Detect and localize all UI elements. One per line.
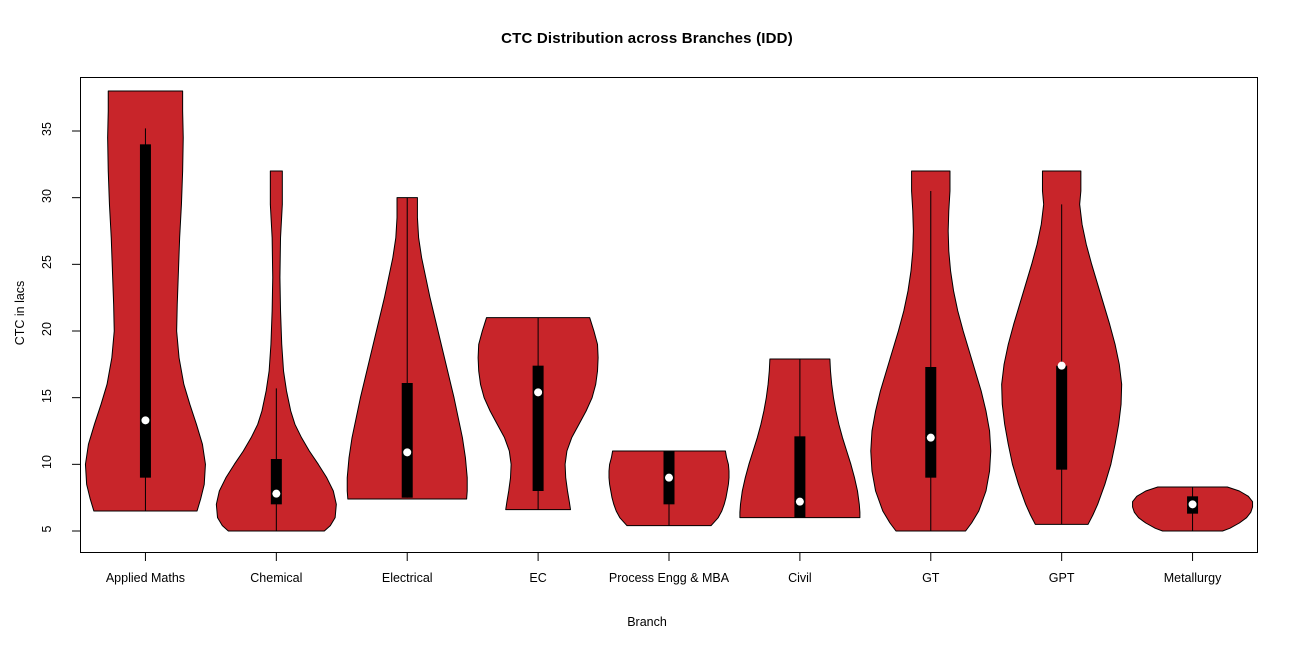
violin-gt[interactable] — [871, 171, 991, 531]
violin-civil[interactable] — [740, 359, 860, 518]
y-tick-label: 20 — [40, 318, 54, 340]
iqr-box — [925, 367, 936, 478]
median-point — [665, 474, 673, 482]
violin-metallurgy[interactable] — [1133, 487, 1253, 531]
median-point — [403, 448, 411, 456]
x-tick-label-civil: Civil — [788, 571, 812, 585]
y-tick-label: 25 — [40, 251, 54, 273]
violin-applied-maths[interactable] — [85, 91, 205, 511]
y-tick-label: 5 — [40, 518, 54, 540]
x-axis-label: Branch — [0, 615, 1294, 629]
median-point — [927, 434, 935, 442]
x-tick-label-applied-maths: Applied Maths — [106, 571, 185, 585]
x-tick-label-electrical: Electrical — [382, 571, 433, 585]
y-tick-label: 15 — [40, 385, 54, 407]
x-tick-label-gt: GT — [922, 571, 939, 585]
x-tick-label-ec: EC — [529, 571, 546, 585]
violin-plot-svg — [0, 0, 1294, 653]
y-tick-label: 10 — [40, 451, 54, 473]
median-point — [141, 416, 149, 424]
iqr-box — [140, 144, 151, 477]
median-point — [1189, 500, 1197, 508]
x-tick-label-gpt: GPT — [1049, 571, 1075, 585]
median-point — [796, 498, 804, 506]
iqr-box — [1056, 366, 1067, 470]
chart-root: CTC Distribution across Branches (IDD) C… — [0, 0, 1294, 653]
median-point — [272, 490, 280, 498]
violin-gpt[interactable] — [1002, 171, 1122, 524]
iqr-box — [402, 383, 413, 498]
violin-chemical[interactable] — [216, 171, 336, 531]
iqr-box — [533, 366, 544, 491]
violin-electrical[interactable] — [347, 198, 467, 499]
violin-process-engg-mba[interactable] — [609, 451, 729, 526]
median-point — [534, 388, 542, 396]
y-tick-label: 35 — [40, 118, 54, 140]
violin-ec[interactable] — [478, 318, 598, 510]
median-point — [1058, 362, 1066, 370]
x-tick-label-process-engg-mba: Process Engg & MBA — [609, 571, 729, 585]
violins-group — [85, 91, 1252, 531]
y-axis-label: CTC in lacs — [13, 253, 27, 373]
y-tick-label: 30 — [40, 185, 54, 207]
x-tick-label-chemical: Chemical — [250, 571, 302, 585]
x-tick-label-metallurgy: Metallurgy — [1164, 571, 1222, 585]
